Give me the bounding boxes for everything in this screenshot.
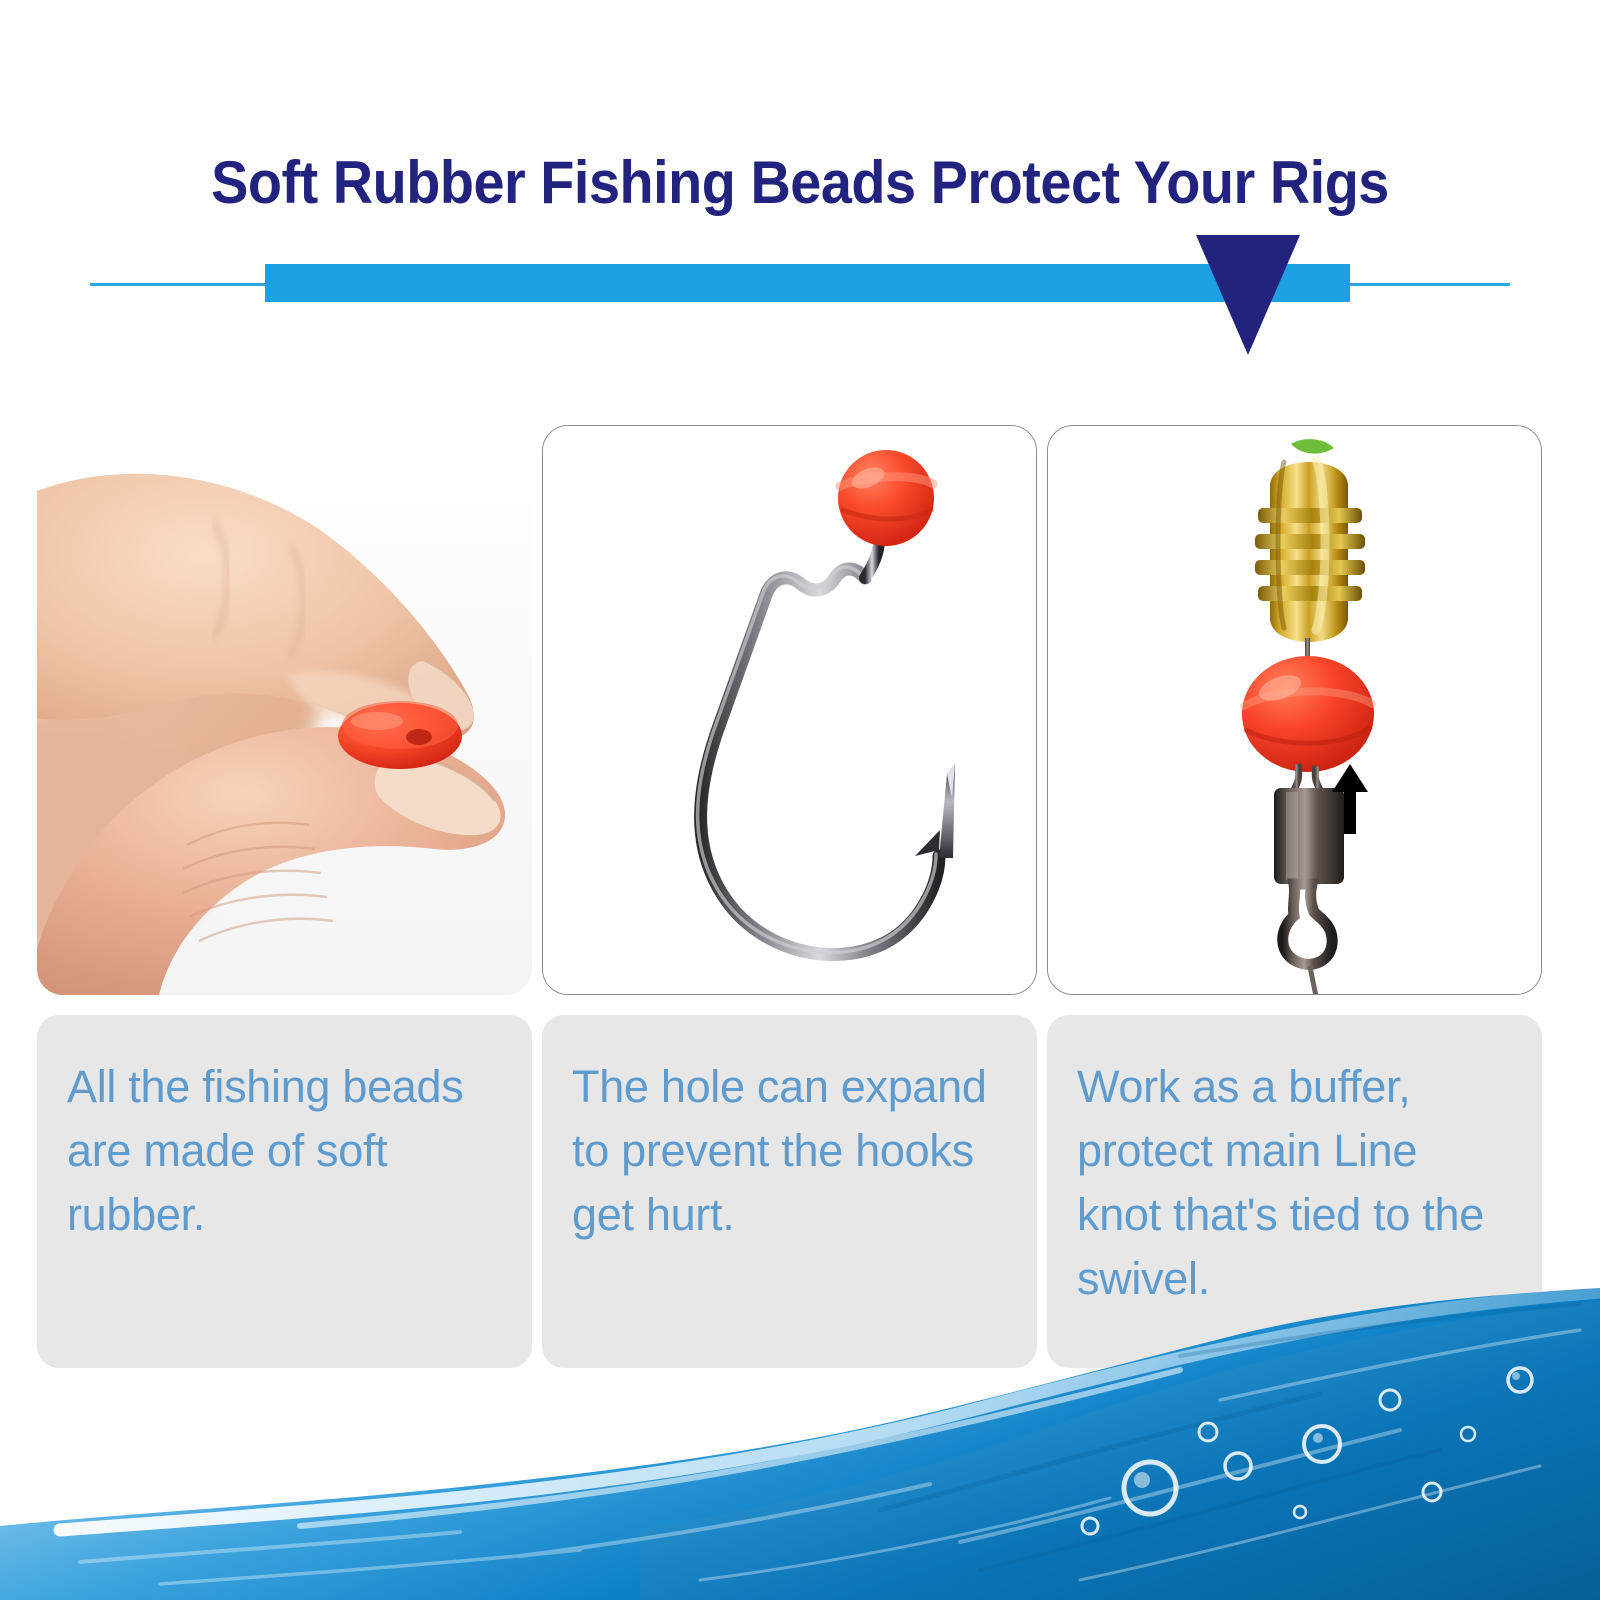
brass-sinker-bead-swivel-rig-photo: [1047, 425, 1542, 995]
fingers-squeezing-bead-photo: [37, 425, 532, 995]
feature-card-grid: All the fishing beads are made of soft r…: [0, 0, 1600, 1600]
rig-assembly-illustration: [1048, 426, 1542, 995]
feature-card-soft-rubber: All the fishing beads are made of soft r…: [37, 425, 532, 995]
red-bead-shape: [838, 450, 934, 546]
feature-card-buffer: Work as a buffer, protect main Line knot…: [1047, 425, 1542, 995]
feature-caption-buffer: Work as a buffer, protect main Line knot…: [1047, 1015, 1542, 1368]
feature-card-hole-expands: The hole can expand to prevent the hooks…: [542, 425, 1037, 995]
offset-worm-hook-with-bead-photo: [542, 425, 1037, 995]
feature-caption-hole-expands: The hole can expand to prevent the hooks…: [542, 1015, 1037, 1368]
feature-caption-soft-rubber: All the fishing beads are made of soft r…: [37, 1015, 532, 1368]
fingers-bead-illustration: [37, 425, 532, 995]
worm-hook-illustration: [543, 426, 1037, 995]
red-bead-shape: [338, 701, 462, 769]
red-bead-shape: [1242, 656, 1374, 772]
